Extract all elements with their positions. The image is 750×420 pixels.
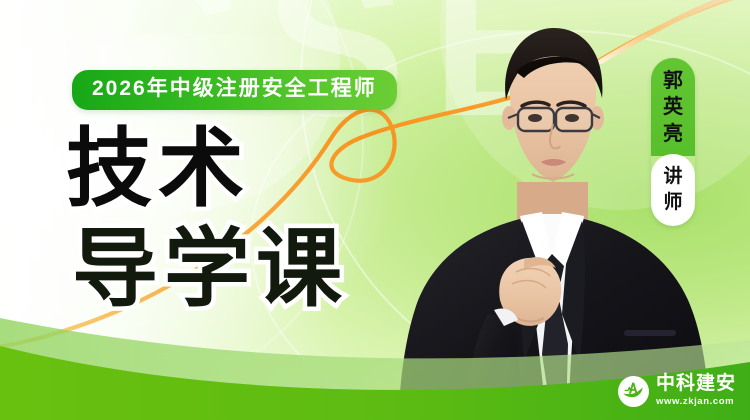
instructor-name: 郭 英 亮 — [651, 58, 695, 156]
course-poster: CSE — [0, 0, 750, 420]
instructor-role: 讲 师 — [651, 154, 695, 226]
instructor-name-char: 亮 — [651, 121, 695, 147]
course-title-banner: 2026年中级注册安全工程师 — [72, 70, 397, 110]
brand-text: 中科建安 www.zkjan.com — [656, 374, 736, 408]
headline: 技术 导学课 — [66, 126, 348, 313]
brand-url: www.zkjan.com — [656, 396, 736, 408]
headline-line-1: 技术 — [66, 126, 348, 214]
instructor-name-char: 英 — [651, 94, 695, 120]
brand-logo: 中科建安 www.zkjan.com — [618, 374, 736, 408]
brand-name: 中科建安 — [656, 374, 736, 395]
instructor-name-char: 郭 — [651, 68, 695, 94]
course-title-text: 2026年中级注册安全工程师 — [92, 77, 377, 101]
mountain-pulse-icon — [618, 376, 649, 407]
instructor-badge: 郭 英 亮 讲 师 — [651, 58, 695, 226]
headline-line-2: 导学课 — [72, 226, 348, 314]
instructor-role-char: 讲 — [651, 164, 695, 189]
instructor-role-char: 师 — [651, 190, 695, 215]
